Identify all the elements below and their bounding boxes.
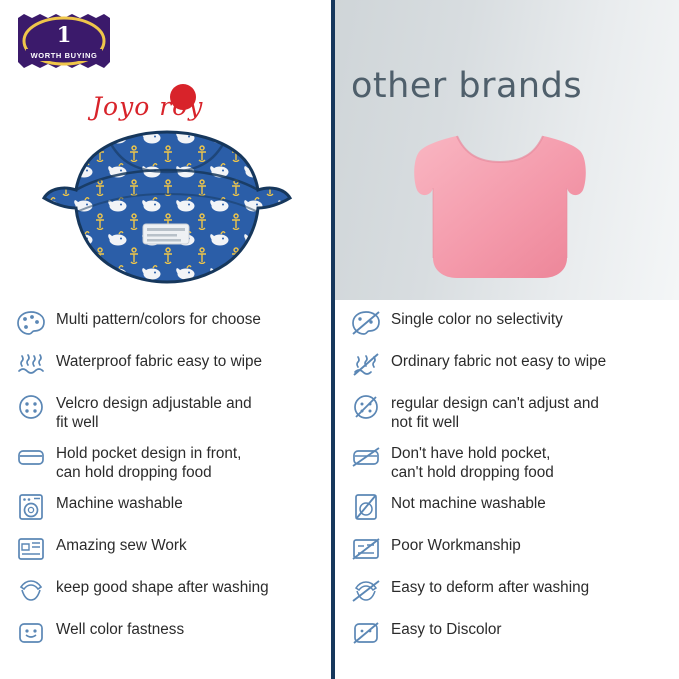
brand-name: Joyo roy — [92, 92, 203, 121]
other-brands-heading: other brands — [351, 66, 582, 106]
list-item-label: Amazing sew Work — [56, 532, 187, 555]
list-item: Well color fastness — [14, 616, 269, 650]
product-image-left — [40, 128, 295, 293]
left-feature-list: Multi pattern/colors for choose Wat — [14, 306, 269, 658]
list-item: Machine washable — [14, 490, 269, 524]
washing-machine-icon — [14, 492, 48, 522]
list-item-label: Well color fastness — [56, 616, 184, 639]
list-item-label: Poor Workmanship — [391, 532, 521, 555]
no-pocket-icon — [349, 442, 383, 472]
no-washing-machine-icon — [349, 492, 383, 522]
list-item-label: keep good shape after washing — [56, 574, 269, 597]
left-panel: 1 WORTH BUYING Joyo roy — [0, 0, 333, 679]
list-item: Don't have hold pocket, can't hold dropp… — [349, 440, 606, 482]
list-item: Not machine washable — [349, 490, 606, 524]
list-item-label: Not machine washable — [391, 490, 546, 513]
no-sewing-machine-icon — [349, 534, 383, 564]
list-item: Velcro design adjustable and fit well — [14, 390, 269, 432]
list-item-label: Velcro design adjustable and fit well — [56, 390, 252, 432]
list-item: Hold pocket design in front, can hold dr… — [14, 440, 269, 482]
list-item: Waterproof fabric easy to wipe — [14, 348, 269, 382]
list-item-label: Easy to Discolor — [391, 616, 502, 639]
list-item: Ordinary fabric not easy to wipe — [349, 348, 606, 382]
list-item-label: Machine washable — [56, 490, 183, 513]
shape-keep-icon — [14, 576, 48, 606]
list-item-label: Ordinary fabric not easy to wipe — [391, 348, 606, 371]
badge-caption: WORTH BUYING — [31, 51, 98, 60]
color-fastness-icon — [14, 618, 48, 648]
list-item: Easy to Discolor — [349, 616, 606, 650]
badge-number: 1 — [57, 22, 72, 47]
right-feature-list: Single color no selectivity Ordinary f — [349, 306, 606, 658]
list-item-label: regular design can't adjust and not fit … — [391, 390, 599, 432]
water-drops-icon — [14, 350, 48, 380]
brand-logo: Joyo roy — [92, 84, 252, 130]
list-item-label: Hold pocket design in front, can hold dr… — [56, 440, 241, 482]
list-item-label: Single color no selectivity — [391, 306, 563, 329]
list-item-label: Easy to deform after washing — [391, 574, 589, 597]
no-palette-icon — [349, 308, 383, 338]
list-item: keep good shape after washing — [14, 574, 269, 608]
list-item: regular design can't adjust and not fit … — [349, 390, 606, 432]
sewing-machine-icon — [14, 534, 48, 564]
velcro-button-icon — [14, 392, 48, 422]
product-image-right — [385, 118, 615, 298]
list-item: Poor Workmanship — [349, 532, 606, 566]
list-item: Single color no selectivity — [349, 306, 606, 340]
no-shape-keep-icon — [349, 576, 383, 606]
list-item: Easy to deform after washing — [349, 574, 606, 608]
list-item: Multi pattern/colors for choose — [14, 306, 269, 340]
no-color-fastness-icon — [349, 618, 383, 648]
palette-icon — [14, 308, 48, 338]
vertical-divider — [331, 0, 335, 679]
no-velcro-button-icon — [349, 392, 383, 422]
list-item-label: Don't have hold pocket, can't hold dropp… — [391, 440, 554, 482]
right-panel: other brands — [333, 0, 679, 679]
no-water-drops-icon — [349, 350, 383, 380]
worth-buying-badge: 1 WORTH BUYING — [12, 12, 116, 74]
comparison-infographic: 1 WORTH BUYING Joyo roy — [0, 0, 679, 679]
list-item-label: Waterproof fabric easy to wipe — [56, 348, 262, 371]
pocket-icon — [14, 442, 48, 472]
list-item: Amazing sew Work — [14, 532, 269, 566]
list-item-label: Multi pattern/colors for choose — [56, 306, 261, 329]
